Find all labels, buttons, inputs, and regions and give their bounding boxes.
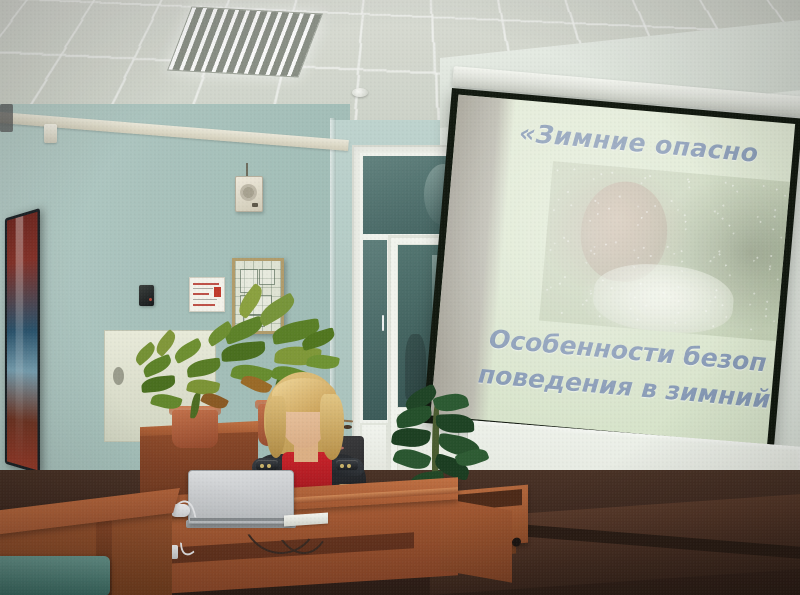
epaulette-right [336, 460, 358, 470]
cable-plug [171, 545, 178, 559]
conduit-junction-box [44, 124, 57, 143]
fire-extinguisher-icon [214, 287, 221, 297]
light-louver-grid [168, 8, 321, 77]
smoke-detector-icon [352, 88, 368, 97]
teal-chair[interactable] [0, 556, 110, 595]
hair-side-right [320, 394, 344, 460]
ceiling-light-panel [167, 6, 323, 77]
epaulette-left [256, 460, 278, 470]
pa-speaker-icon [235, 176, 263, 212]
tv-glare [16, 216, 23, 466]
wall-sensor-box [139, 285, 154, 306]
speaker-grille [240, 184, 257, 201]
hair-side-left [266, 396, 286, 458]
photograph-scene: «Зимние опасно Особенности безоп поведен… [0, 0, 800, 595]
apple-logo-icon [231, 489, 248, 508]
eye-right [343, 425, 352, 429]
cabinet-handle[interactable] [113, 367, 124, 385]
sensor-led-icon [149, 298, 152, 301]
wall-mounted-tv[interactable] [5, 208, 40, 474]
main-desk-side-panel [440, 498, 512, 583]
conduit-bracket [0, 104, 13, 132]
speaker-knob[interactable] [252, 203, 258, 207]
